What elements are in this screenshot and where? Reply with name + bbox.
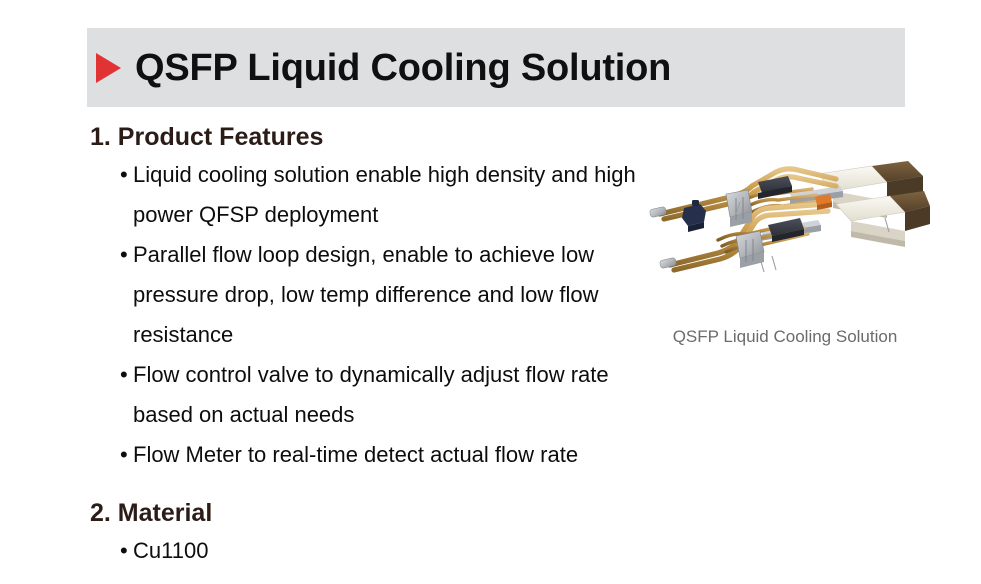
section-heading-product-features: 1. Product Features [90,121,650,153]
list-item: • Liquid cooling solution enable high de… [90,155,650,235]
slide-title-bar: QSFP Liquid Cooling Solution [87,28,905,107]
slide-root: QSFP Liquid Cooling Solution 1. Product … [0,0,981,584]
bullet-point-icon: • [120,235,128,275]
page-title: QSFP Liquid Cooling Solution [135,49,671,87]
list-item-label: Parallel flow loop design, enable to ach… [133,235,650,355]
bullet-point-icon: • [120,355,128,395]
figure-caption: QSFP Liquid Cooling Solution [640,327,930,347]
list-item: • Parallel flow loop design, enable to a… [90,235,650,355]
list-item-label: Flow control valve to dynamically adjust… [133,355,650,435]
bullet-point-icon: • [120,155,128,195]
bullet-list-material: • Cu1100 [90,531,650,571]
list-item-label: Cu1100 [133,531,650,571]
list-item-label: Liquid cooling solution enable high dens… [133,155,650,235]
list-item: • Cu1100 [90,531,650,571]
list-item: • Flow control valve to dynamically adju… [90,355,650,435]
play-triangle-icon [96,53,121,83]
bullet-point-icon: • [120,435,128,475]
bullet-list-product-features: • Liquid cooling solution enable high de… [90,155,650,475]
section-heading-material: 2. Material [90,497,650,529]
list-item-label: Flow Meter to real-time detect actual fl… [133,435,650,475]
content-column: 1. Product Features • Liquid cooling sol… [90,121,650,571]
list-item: • Flow Meter to real-time detect actual … [90,435,650,475]
qsfp-liquid-cooling-assembly-render [640,152,930,302]
bullet-point-icon: • [120,531,128,571]
product-figure: QSFP Liquid Cooling Solution [640,152,930,347]
